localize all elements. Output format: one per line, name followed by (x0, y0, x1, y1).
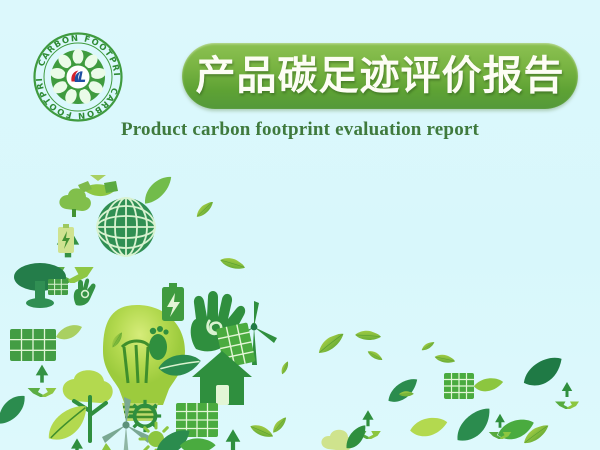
leaf-icon (355, 326, 382, 345)
cover-header: CARBON FOOTPRINT · CARBON FOOTPRINT · (0, 0, 600, 165)
recycle-icon (63, 438, 90, 450)
leaf-icon (451, 407, 497, 443)
leaf-icon (420, 341, 435, 350)
leaf-icon (138, 175, 177, 206)
report-cover-page: CARBON FOOTPRINT · CARBON FOOTPRINT · (0, 0, 600, 450)
solar-panel-icon (444, 373, 474, 399)
leaf-icon (315, 332, 347, 354)
leaf-icon (367, 347, 383, 364)
globe-icon (97, 198, 155, 256)
report-title-banner: 产品碳足迹评价报告 (182, 43, 578, 109)
battery-icon (58, 224, 74, 253)
leaf-icon (0, 394, 31, 425)
leaf-icon (434, 350, 456, 368)
carbon-footprint-seal-logo: CARBON FOOTPRINT · CARBON FOOTPRINT · (32, 31, 124, 123)
recycle-icon (555, 382, 579, 410)
leaf-icon (250, 419, 275, 443)
recycle-icon (216, 429, 250, 450)
water-drop-icon (98, 443, 114, 450)
hand-icon (74, 278, 96, 305)
leaf-icon (278, 361, 291, 375)
leaf-icon (522, 357, 564, 387)
eco-footprint-illustration (0, 175, 600, 450)
tree-icon (59, 188, 91, 217)
leaf-icon (193, 201, 216, 218)
leaf-icon (43, 405, 92, 443)
leaf-icon (56, 325, 82, 339)
leaf-icon (385, 378, 420, 403)
recycle-icon (28, 365, 57, 398)
leaf-icon (269, 416, 290, 433)
solar-panel-icon (10, 329, 56, 361)
leaf-icon (473, 372, 503, 397)
page-title: 产品碳足迹评价报告 (196, 56, 565, 96)
leaf-icon (409, 412, 447, 441)
battery-icon (162, 283, 184, 321)
leaf-icon (220, 252, 246, 275)
solar-panel-icon (48, 279, 68, 295)
page-subtitle: Product carbon footprint evaluation repo… (0, 119, 600, 141)
